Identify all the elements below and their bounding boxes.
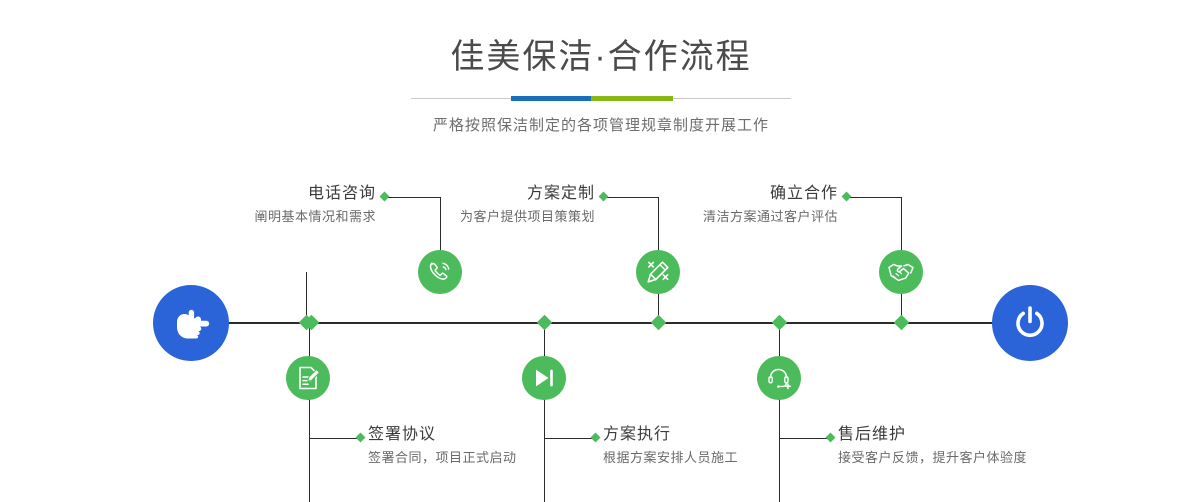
- step-desc-2: 签署合同，项目正式启动: [368, 448, 517, 468]
- step-icon-2: [286, 356, 330, 400]
- step-label-5: 确立合作 清洁方案通过客户评估: [614, 184, 838, 227]
- connector-vertical-6: [779, 323, 780, 502]
- handshake-icon: [887, 260, 915, 284]
- step-icon-3: [636, 250, 680, 294]
- header: 佳美保洁·合作流程 严格按照保洁制定的各项管理规章制度开展工作: [0, 0, 1202, 135]
- step-icon-5: [879, 250, 923, 294]
- timeline: 电话咨询 阐明基本情况和需求 签署协议 签署合同，项目正式启动: [0, 160, 1202, 502]
- step-desc-3: 为客户提供项目策策划: [370, 207, 595, 227]
- label-dot-5: [842, 192, 852, 202]
- sign-document-icon: [296, 365, 320, 391]
- step-icon-1: [418, 250, 462, 294]
- timeline-node-3-marker: [537, 315, 553, 331]
- title-divider: [411, 96, 791, 102]
- step-title-3: 方案定制: [370, 184, 595, 204]
- page-subtitle: 严格按照保洁制定的各项管理规章制度开展工作: [0, 114, 1202, 135]
- step-title-6: 售后维护: [838, 425, 1027, 445]
- timeline-node-5-marker: [772, 315, 788, 331]
- leader-line-5: [847, 197, 902, 198]
- step-desc-5: 清洁方案通过客户评估: [614, 207, 838, 227]
- pointing-hand-icon: [171, 305, 211, 341]
- step-label-4: 方案执行 根据方案安排人员施工: [603, 425, 738, 468]
- step-title-2: 签署协议: [368, 425, 517, 445]
- divider-blue-segment: [511, 96, 591, 101]
- pencil-ruler-icon: [645, 259, 671, 285]
- step-desc-1: 阐明基本情况和需求: [150, 207, 376, 227]
- phone-call-icon: [427, 259, 453, 285]
- timeline-start-endpoint: [153, 285, 229, 361]
- divider-green-segment: [591, 96, 673, 101]
- leader-line-4: [544, 438, 596, 439]
- connector-vertical-5b: [901, 197, 902, 252]
- timeline-axis: [155, 322, 1050, 324]
- label-dot-3: [599, 192, 609, 202]
- step-label-1: 电话咨询 阐明基本情况和需求: [150, 184, 376, 227]
- step-title-5: 确立合作: [614, 184, 838, 204]
- step-icon-4: [522, 356, 566, 400]
- timeline-node-5: [894, 315, 910, 331]
- connector-vertical-4: [544, 323, 545, 502]
- timeline-end-endpoint: [992, 285, 1068, 361]
- label-dot-6: [826, 433, 836, 443]
- page-title: 佳美保洁·合作流程: [0, 40, 1202, 74]
- step-label-2: 签署协议 签署合同，项目正式启动: [368, 425, 517, 468]
- process-flow-infographic: 佳美保洁·合作流程 严格按照保洁制定的各项管理规章制度开展工作: [0, 0, 1202, 502]
- label-dot-2: [356, 433, 366, 443]
- power-button-icon: [1010, 303, 1050, 343]
- play-forward-icon: [532, 366, 556, 390]
- step-desc-6: 接受客户反馈，提升客户体验度: [838, 448, 1027, 468]
- connector-vertical-2: [309, 323, 310, 502]
- step-label-3: 方案定制 为客户提供项目策策划: [370, 184, 595, 227]
- leader-line-6: [779, 438, 831, 439]
- timeline-node-3: [651, 315, 667, 331]
- label-dot-4: [591, 433, 601, 443]
- headset-support-add-icon: [766, 365, 792, 391]
- step-title-1: 电话咨询: [150, 184, 376, 204]
- step-icon-6: [757, 356, 801, 400]
- leader-line-2: [309, 438, 361, 439]
- step-label-6: 售后维护 接受客户反馈，提升客户体验度: [838, 425, 1027, 468]
- step-desc-4: 根据方案安排人员施工: [603, 448, 738, 468]
- step-title-4: 方案执行: [603, 425, 738, 445]
